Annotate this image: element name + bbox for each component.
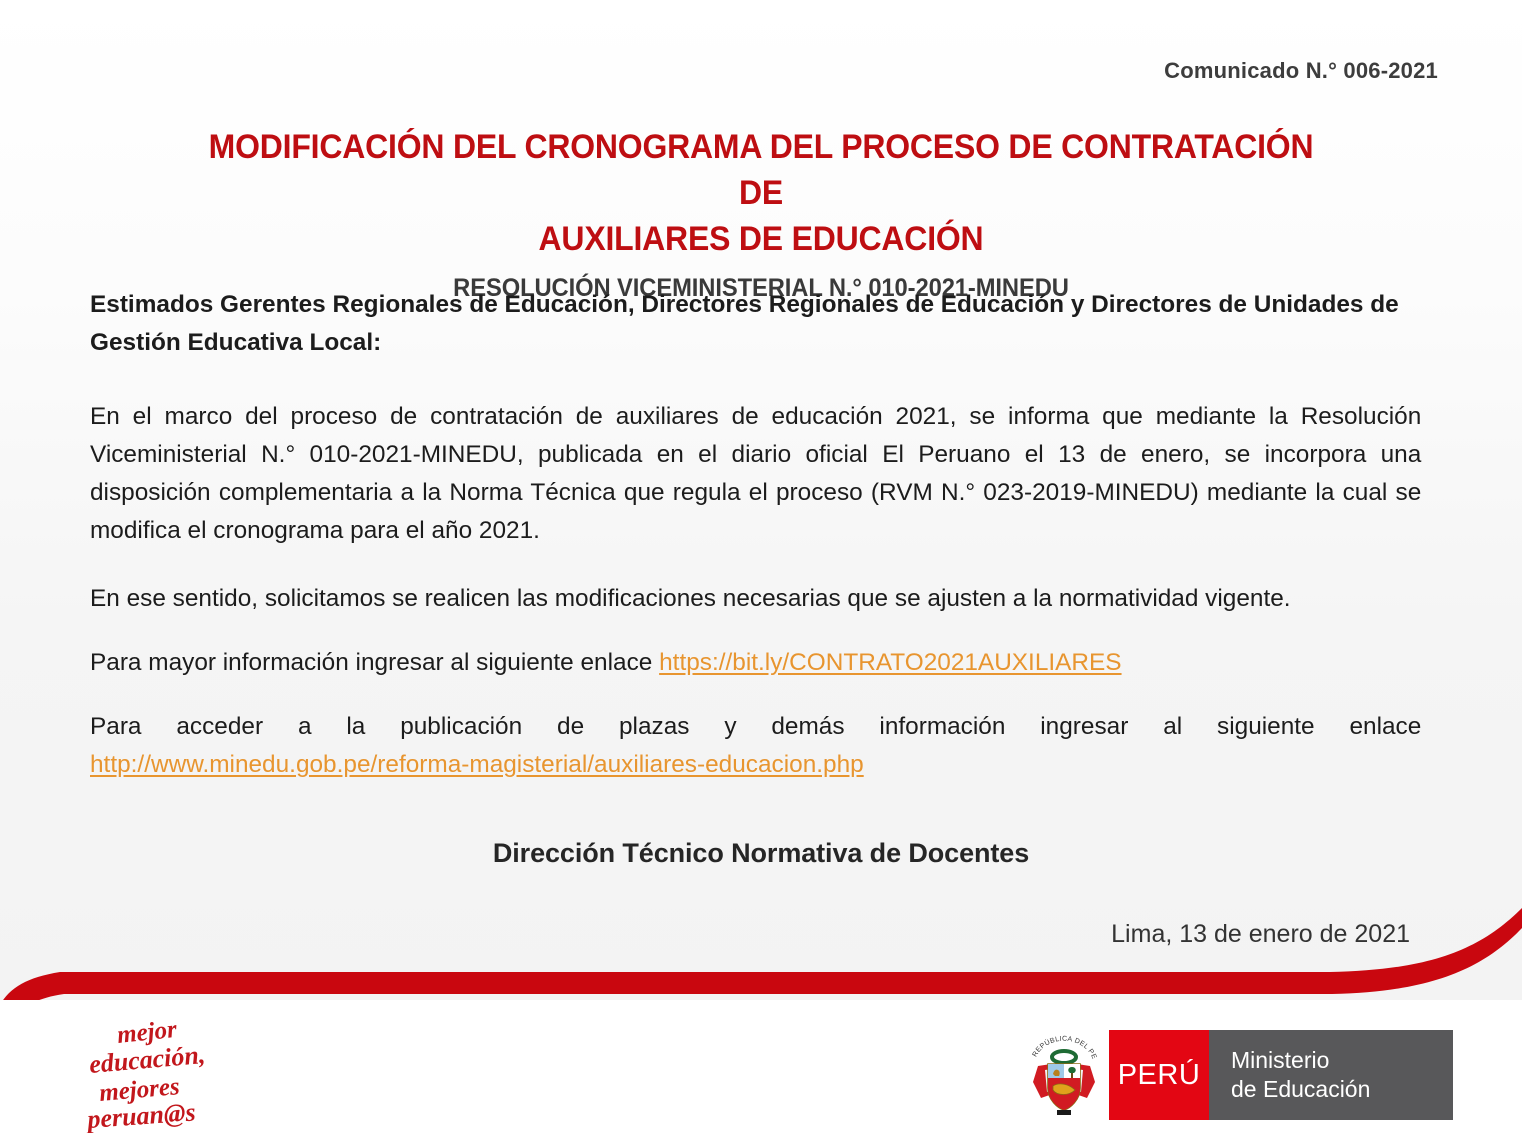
link-paragraph-2: Para acceder a la publicación de plazas … [90, 708, 1421, 784]
peru-label: PERÚ [1118, 1059, 1201, 1092]
bitly-contrato-link[interactable]: https://bit.ly/CONTRATO2021AUXILIARES [659, 649, 1121, 676]
document-title-line-1: MODIFICACIÓN DEL CRONOGRAMA DEL PROCESO … [206, 124, 1315, 216]
body-paragraph-2: En ese sentido, solicitamos se realicen … [90, 580, 1421, 618]
ministry-label-line-2: de Educación [1231, 1075, 1453, 1104]
dateline: Lima, 13 de enero de 2021 [1111, 920, 1410, 949]
communique-page: Comunicado N.° 006-2021 MODIFICACIÓN DEL… [0, 0, 1522, 1140]
link-intro-text-1: Para mayor información ingresar al sigui… [90, 649, 659, 676]
title-block: MODIFICACIÓN DEL CRONOGRAMA DEL PROCESO … [0, 124, 1522, 303]
communique-number: Comunicado N.° 006-2021 [1164, 58, 1438, 84]
ministry-brand-block: Ministerio de Educación [1209, 1030, 1453, 1120]
link-paragraph-1: Para mayor información ingresar al sigui… [90, 644, 1421, 682]
body-paragraph-1: En el marco del proceso de contratación … [90, 398, 1421, 550]
link-intro-text-2: Para acceder a la publicación de plazas … [90, 713, 1421, 740]
ministry-label-line-1: Ministerio [1231, 1046, 1453, 1075]
peru-brand-block: PERÚ [1109, 1030, 1209, 1120]
minedu-logo: REPÚBLICA DEL PERÚ PERÚ [1025, 1030, 1453, 1120]
minedu-auxiliares-link[interactable]: http://www.minedu.gob.pe/reforma-magiste… [90, 751, 864, 778]
salutation-paragraph: Estimados Gerentes Regionales de Educaci… [90, 286, 1421, 362]
document-body: Estimados Gerentes Regionales de Educaci… [90, 286, 1428, 814]
document-title-line-2: AUXILIARES DE EDUCACIÓN [206, 216, 1315, 262]
peru-coat-of-arms-icon: REPÚBLICA DEL PERÚ [1025, 1030, 1103, 1120]
document-title: MODIFICACIÓN DEL CRONOGRAMA DEL PROCESO … [206, 124, 1315, 262]
signature-department: Dirección Técnico Normativa de Docentes [0, 838, 1522, 869]
brand-slogan-line-2: educación, [88, 1040, 206, 1079]
brand-slogan-logo: mejor educación, mejores peruan@s [78, 1018, 308, 1133]
svg-text:REPÚBLICA DEL PERÚ: REPÚBLICA DEL PERÚ [1025, 1030, 1098, 1060]
